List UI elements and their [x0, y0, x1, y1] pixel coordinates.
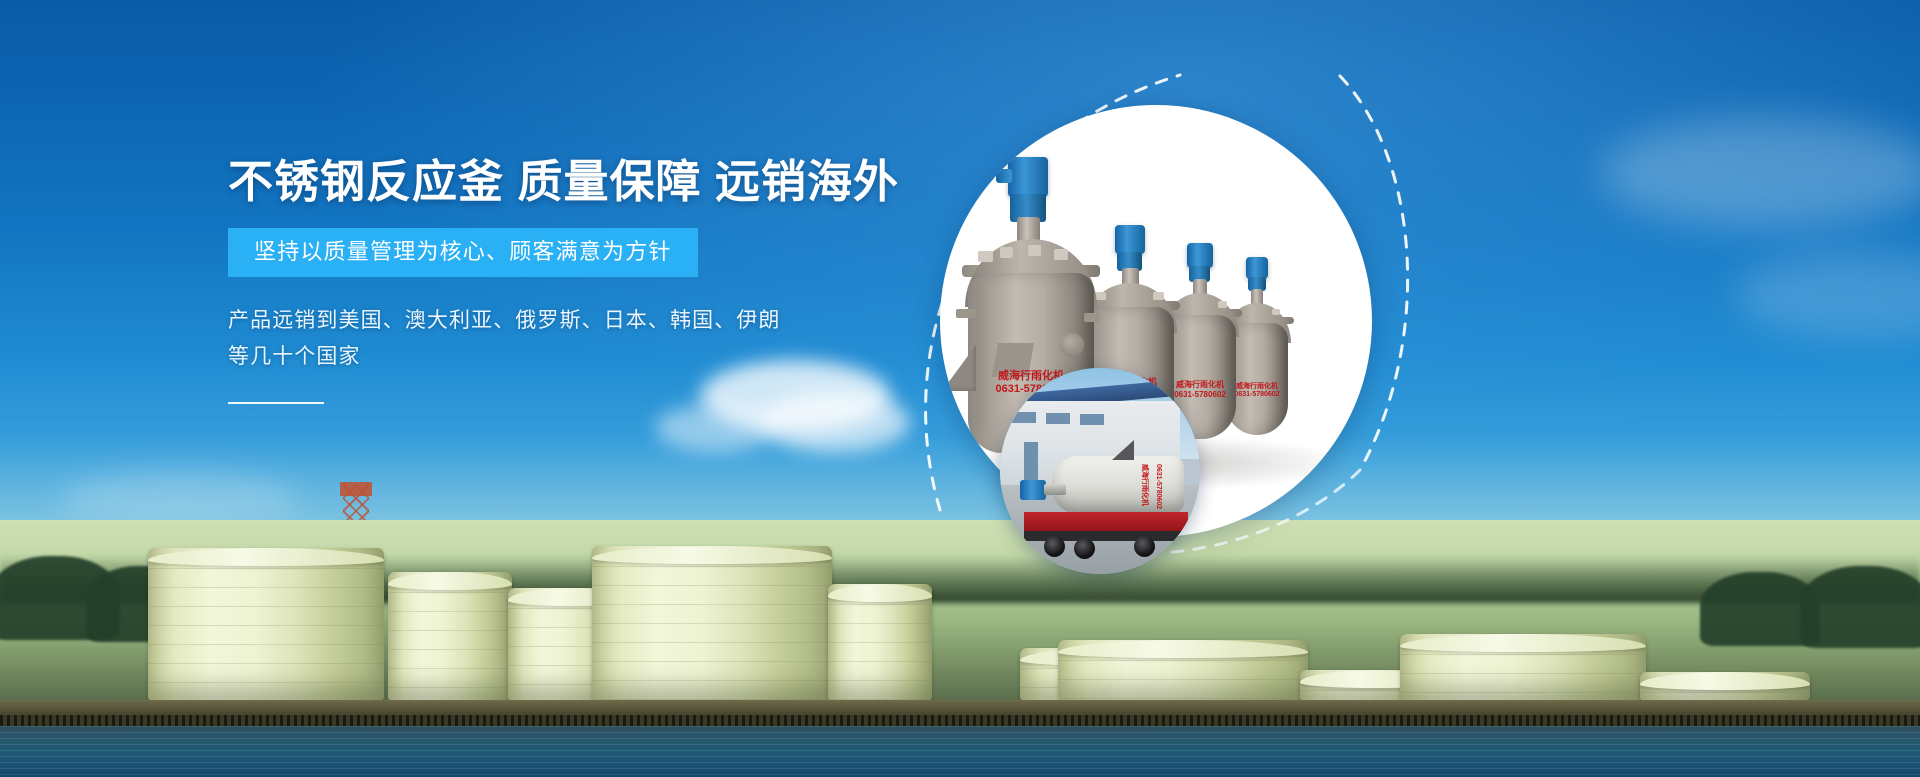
storage-tank: [592, 546, 832, 700]
tower-top-flag: [340, 482, 372, 496]
factory-window: [1046, 413, 1070, 424]
description: 产品远销到美国、澳大利亚、俄罗斯、日本、韩国、伊朗 等几十个国家: [228, 303, 848, 377]
factory-window: [1080, 414, 1104, 425]
description-line-1: 产品远销到美国、澳大利亚、俄罗斯、日本、韩国、伊朗: [228, 303, 848, 340]
nozzle-cap: [1028, 245, 1041, 256]
water: [0, 726, 1920, 777]
nozzle-cap: [1054, 249, 1068, 260]
truck-wheel: [1134, 536, 1155, 557]
nozzle-cap: [1000, 247, 1013, 258]
agitator-motor: [1246, 257, 1268, 279]
quay-wall: [0, 700, 1920, 728]
tree: [1800, 566, 1920, 648]
storage-tank: [1640, 672, 1810, 700]
hero-banner: 威海行雨化机 0631-5780602 威海行雨化机 0631-5780602: [0, 0, 1920, 777]
cloud: [1600, 118, 1920, 228]
truck-wheel: [1044, 536, 1065, 557]
storage-tank: [828, 584, 932, 700]
nozzle-cap: [1095, 292, 1106, 300]
storage-tank: [148, 548, 384, 700]
motor-terminal-box: [996, 169, 1012, 183]
cloud: [655, 404, 775, 452]
factory-door: [1024, 442, 1038, 482]
side-nozzle: [1084, 313, 1100, 322]
agitator-motor: [1187, 243, 1213, 268]
factory-window: [1012, 412, 1036, 423]
horizontal-vessel: [1052, 456, 1184, 514]
factory-watermark-phone: 0631-5780602: [1155, 464, 1162, 509]
storage-tank: [1400, 634, 1646, 700]
copy-block: 不锈钢反应釜 质量保障 远销海外 坚持以质量管理为核心、顾客满意为方针 产品远销…: [228, 158, 848, 404]
factory-photo-circle: 威海行雨化机 0631-5780602: [1000, 368, 1200, 574]
nozzle-cap: [1218, 301, 1227, 308]
subtitle-highlight-bar: 坚持以质量管理为核心、顾客满意为方针: [228, 228, 698, 277]
headline: 不锈钢反应釜 质量保障 远销海外: [228, 158, 848, 207]
factory-watermark-company: 威海行雨化机: [1140, 464, 1150, 506]
side-nozzle: [956, 309, 976, 318]
manway-port: [1060, 333, 1084, 357]
description-line-2: 等几十个国家: [228, 339, 848, 376]
nozzle-cap: [1272, 309, 1280, 315]
vessel-motor: [1020, 480, 1046, 500]
truck-wheel: [1074, 538, 1095, 559]
nozzle-cap: [1153, 292, 1164, 300]
divider-rule: [228, 402, 324, 404]
agitator-motor: [1115, 225, 1145, 254]
nozzle-cap: [978, 251, 993, 262]
agitator-motor: [1008, 157, 1048, 197]
storage-tank: [388, 572, 512, 700]
storage-tank: [1058, 640, 1308, 700]
vessel-shaft: [1044, 484, 1066, 495]
